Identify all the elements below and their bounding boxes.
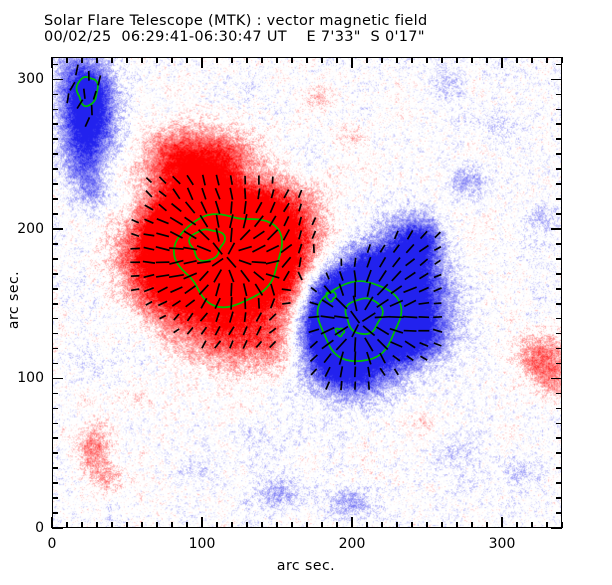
field-vector-northwest — [84, 89, 85, 99]
x-minor-tick-top — [216, 57, 218, 63]
field-vector — [282, 303, 290, 304]
field-vector — [159, 191, 166, 196]
field-vector — [321, 316, 335, 318]
field-vector — [284, 190, 289, 198]
y-tick-label: 0 — [4, 520, 44, 536]
field-vector — [355, 367, 356, 378]
field-vector — [326, 382, 329, 390]
field-vector — [340, 366, 342, 377]
field-vector — [340, 271, 343, 280]
field-vector-northwest — [67, 93, 69, 103]
y-minor-tick — [52, 393, 58, 395]
field-vector-northwest — [70, 82, 75, 90]
field-vector-northwest — [76, 65, 78, 75]
x-minor-tick — [216, 522, 218, 528]
x-minor-tick-top — [126, 57, 128, 63]
x-major-tick — [351, 517, 353, 528]
y-minor-tick — [52, 94, 58, 96]
y-minor-tick — [52, 408, 58, 410]
field-vector — [258, 188, 260, 199]
y-minor-tick — [52, 153, 58, 155]
x-minor-tick — [96, 522, 98, 528]
y-minor-tick-right — [556, 168, 562, 170]
x-minor-tick-top — [471, 57, 473, 63]
y-minor-tick — [52, 303, 58, 305]
x-tick-label: 0 — [48, 536, 57, 552]
field-vector — [380, 245, 385, 252]
y-minor-tick — [52, 512, 58, 514]
y-minor-tick — [52, 168, 58, 170]
x-minor-tick — [321, 522, 323, 528]
field-vector — [336, 298, 347, 309]
y-minor-tick — [52, 348, 58, 350]
field-vector — [395, 231, 398, 239]
field-vector — [199, 230, 210, 240]
y-major-tick — [52, 79, 63, 81]
field-vector — [299, 257, 301, 267]
field-vector — [159, 177, 166, 184]
field-vector — [231, 175, 233, 184]
field-vector — [172, 301, 180, 306]
x-minor-tick-top — [306, 57, 308, 63]
field-vector — [197, 246, 211, 252]
field-vector — [240, 230, 250, 240]
field-vector — [380, 353, 385, 363]
x-minor-tick-top — [336, 57, 338, 63]
field-vector — [202, 188, 206, 199]
field-vector — [420, 356, 427, 360]
field-vector — [173, 176, 181, 184]
field-vector — [282, 289, 291, 290]
x-minor-tick — [441, 522, 443, 528]
field-vector — [213, 243, 222, 255]
field-vector — [282, 257, 291, 267]
field-vector — [159, 316, 165, 319]
y-minor-tick — [52, 423, 58, 425]
contour-umbra-northwest — [77, 77, 98, 106]
field-vector — [312, 231, 315, 239]
field-vector — [256, 313, 261, 322]
field-vector — [241, 270, 250, 281]
field-vector — [259, 298, 260, 309]
x-minor-tick — [81, 522, 83, 528]
field-vector — [200, 271, 209, 281]
field-vector — [435, 260, 441, 264]
field-vector — [252, 262, 266, 263]
field-vector — [216, 215, 218, 228]
field-vector — [284, 216, 289, 226]
x-minor-tick-top — [291, 57, 293, 63]
x-minor-tick-top — [411, 57, 413, 63]
field-vector — [355, 351, 356, 364]
field-vector — [310, 355, 317, 361]
field-vector — [367, 270, 371, 282]
x-axis-title: arc sec. — [0, 558, 612, 574]
field-vector — [365, 338, 373, 351]
x-minor-tick-top — [96, 57, 98, 63]
field-vector — [200, 313, 207, 321]
field-vector — [227, 257, 236, 267]
field-vector — [353, 296, 356, 311]
x-minor-tick — [261, 522, 263, 528]
field-vector — [230, 341, 233, 349]
x-minor-tick-top — [261, 57, 263, 63]
field-vector — [326, 273, 329, 280]
y-minor-tick-right — [556, 64, 562, 66]
field-vector — [369, 381, 370, 389]
field-vector — [407, 356, 414, 361]
field-vector — [393, 356, 400, 361]
field-vector — [158, 287, 168, 292]
field-vector — [215, 188, 219, 199]
field-vector — [271, 190, 273, 199]
x-minor-tick — [156, 522, 158, 528]
field-vector — [229, 270, 234, 282]
field-vector — [403, 317, 418, 318]
field-vector — [257, 326, 261, 335]
field-vector — [156, 247, 170, 251]
y-minor-tick — [52, 123, 58, 125]
field-vector — [434, 288, 442, 291]
field-vector — [393, 258, 400, 267]
field-vector — [367, 283, 370, 297]
x-major-tick — [201, 517, 203, 528]
y-minor-tick-right — [556, 408, 562, 410]
field-vector — [131, 234, 139, 237]
y-minor-tick — [52, 198, 58, 200]
field-vector — [158, 301, 167, 305]
field-vector — [186, 202, 195, 213]
contour-umbra-positive-outer — [174, 214, 282, 307]
field-vector — [434, 275, 441, 278]
y-major-tick — [52, 228, 63, 230]
x-minor-tick — [366, 522, 368, 528]
field-vector — [368, 367, 370, 377]
field-vector — [406, 244, 414, 252]
field-vector — [186, 300, 195, 307]
field-vector — [169, 248, 184, 249]
field-vector — [216, 175, 219, 186]
x-major-tick-top — [351, 57, 353, 68]
x-minor-tick-top — [546, 57, 548, 63]
field-vector — [375, 317, 391, 318]
field-vector — [172, 204, 182, 212]
y-tick-label: 100 — [4, 370, 44, 386]
field-vector-northwest — [85, 117, 89, 126]
x-minor-tick — [141, 522, 143, 528]
field-vector — [202, 341, 206, 349]
y-minor-tick-right — [556, 183, 562, 185]
y-minor-tick-right — [556, 109, 562, 111]
field-vector — [380, 257, 386, 267]
x-minor-tick-top — [321, 57, 323, 63]
field-vector — [145, 205, 153, 210]
x-tick-label: 200 — [339, 536, 366, 552]
y-minor-tick-right — [556, 303, 562, 305]
y-minor-tick-right — [556, 198, 562, 200]
y-minor-tick — [52, 243, 58, 245]
y-minor-tick-right — [556, 123, 562, 125]
contour-umbra-negative-inner — [345, 298, 382, 334]
x-minor-tick — [456, 522, 458, 528]
vector-field-overlay — [53, 58, 561, 527]
x-minor-tick — [246, 522, 248, 528]
y-major-tick — [52, 527, 63, 529]
field-vector — [187, 327, 193, 334]
x-minor-tick-top — [186, 57, 188, 63]
y-minor-tick-right — [556, 348, 562, 350]
field-vector — [229, 327, 234, 335]
field-vector — [404, 287, 417, 292]
field-vector-northwest — [98, 75, 100, 85]
field-vector — [299, 244, 302, 253]
field-vector — [390, 342, 402, 347]
y-minor-tick — [52, 213, 58, 215]
y-minor-tick-right — [556, 437, 562, 439]
field-vector — [188, 188, 193, 200]
field-vector — [325, 367, 330, 377]
x-minor-tick — [516, 522, 518, 528]
field-vector — [169, 275, 184, 277]
field-vector — [170, 217, 183, 225]
field-vector — [231, 297, 232, 310]
x-minor-tick-top — [426, 57, 428, 63]
field-vector — [170, 287, 182, 292]
x-minor-tick-top — [141, 57, 143, 63]
field-vector — [187, 175, 193, 185]
field-vector — [419, 303, 430, 304]
field-vector — [215, 341, 221, 348]
y-minor-tick-right — [556, 243, 562, 245]
field-vector — [311, 369, 317, 375]
x-minor-tick-top — [246, 57, 248, 63]
field-vector — [144, 275, 155, 278]
field-vector — [266, 246, 278, 252]
field-vector — [143, 261, 155, 263]
field-vector — [421, 231, 428, 238]
y-minor-tick — [52, 288, 58, 290]
y-minor-tick — [52, 452, 58, 454]
x-minor-tick — [126, 522, 128, 528]
field-vector — [299, 190, 302, 198]
field-vector — [244, 283, 247, 295]
y-minor-tick-right — [556, 273, 562, 275]
field-vector — [298, 272, 302, 280]
field-vector — [254, 272, 264, 280]
field-vector — [269, 328, 276, 333]
field-vector — [231, 283, 232, 296]
field-vector — [419, 288, 429, 292]
x-minor-tick — [336, 522, 338, 528]
field-vector — [434, 343, 442, 346]
field-vector — [157, 219, 169, 224]
x-minor-tick — [276, 522, 278, 528]
field-vector — [433, 329, 442, 332]
figure-subtitle: 00/02/25 06:29:41-06:30:47 UT E 7'33" S … — [44, 29, 584, 45]
x-minor-tick — [111, 522, 113, 528]
field-vector — [310, 341, 317, 348]
y-major-tick — [52, 378, 63, 380]
field-vector — [245, 298, 246, 310]
field-vector — [408, 230, 413, 239]
field-vector — [435, 232, 441, 237]
x-minor-tick — [546, 522, 548, 528]
field-vector — [243, 340, 247, 348]
field-vector — [284, 203, 289, 212]
field-vector — [354, 270, 356, 281]
x-minor-tick — [471, 522, 473, 528]
field-vector — [146, 302, 152, 305]
field-vector — [299, 204, 301, 211]
x-tick-label: 300 — [489, 536, 516, 552]
field-vector — [214, 270, 221, 283]
field-vector — [185, 286, 196, 294]
x-major-tick-top — [501, 57, 503, 68]
x-minor-tick — [306, 522, 308, 528]
field-vector — [201, 327, 206, 334]
x-minor-tick — [486, 522, 488, 528]
field-vector — [308, 316, 319, 317]
y-minor-tick-right — [556, 497, 562, 499]
field-vector — [271, 284, 274, 296]
x-minor-tick — [186, 522, 188, 528]
field-vector — [311, 288, 317, 292]
field-vector — [173, 189, 180, 199]
field-vector — [243, 214, 246, 228]
field-vector — [405, 341, 415, 348]
field-vector — [420, 343, 429, 347]
field-vector — [252, 245, 265, 252]
field-vector — [144, 247, 155, 249]
x-minor-tick — [291, 522, 293, 528]
field-vector — [156, 275, 169, 277]
field-vector — [216, 283, 220, 296]
plot-area — [52, 57, 562, 528]
field-vector — [239, 247, 252, 251]
y-tick-label: 300 — [4, 71, 44, 87]
field-vector — [131, 289, 139, 290]
y-minor-tick — [52, 109, 58, 111]
field-vector — [284, 271, 290, 281]
y-major-tick-right — [551, 378, 562, 380]
y-minor-tick-right — [556, 213, 562, 215]
page-title: Solar Flare Telescope (MTK) : vector mag… — [44, 13, 584, 29]
field-vector — [419, 273, 428, 278]
y-minor-tick-right — [556, 393, 562, 395]
magnetogram-figure: Solar Flare Telescope (MTK) : vector mag… — [0, 0, 612, 585]
y-minor-tick-right — [556, 138, 562, 140]
field-vector — [336, 339, 346, 350]
y-minor-tick-right — [556, 288, 562, 290]
field-vector — [174, 314, 179, 320]
field-vector — [146, 191, 152, 197]
x-minor-tick-top — [156, 57, 158, 63]
x-major-tick-top — [51, 57, 53, 68]
field-vector — [271, 298, 275, 308]
x-major-tick — [501, 517, 503, 528]
y-tick-label: 200 — [4, 221, 44, 237]
x-minor-tick-top — [111, 57, 113, 63]
y-minor-tick — [52, 363, 58, 365]
field-vector — [187, 313, 192, 321]
figure-title-block: Solar Flare Telescope (MTK) : vector mag… — [44, 13, 584, 45]
x-minor-tick-top — [486, 57, 488, 63]
field-vector — [367, 352, 371, 364]
x-minor-tick-top — [171, 57, 173, 63]
field-vector — [243, 326, 247, 335]
field-vector — [299, 217, 301, 225]
field-vector — [341, 381, 342, 390]
y-major-tick-right — [551, 79, 562, 81]
y-minor-tick — [52, 333, 58, 335]
x-minor-tick — [66, 522, 68, 528]
x-minor-tick-top — [561, 57, 563, 63]
field-vector — [309, 329, 319, 332]
field-vector — [355, 337, 356, 351]
y-minor-tick-right — [556, 333, 562, 335]
x-major-tick-top — [201, 57, 203, 68]
y-minor-tick — [52, 467, 58, 469]
field-vector — [156, 233, 169, 236]
field-vector — [355, 258, 356, 267]
field-vector — [230, 312, 233, 323]
field-vector — [310, 302, 318, 304]
field-vector — [324, 354, 331, 363]
x-minor-tick — [531, 522, 533, 528]
field-vector — [256, 341, 261, 347]
x-minor-tick — [231, 522, 233, 528]
field-vector — [184, 261, 197, 264]
y-minor-tick — [52, 497, 58, 499]
x-minor-tick — [171, 522, 173, 528]
y-minor-tick-right — [556, 363, 562, 365]
y-minor-tick-right — [556, 467, 562, 469]
y-minor-tick-right — [556, 153, 562, 155]
field-vector — [132, 220, 139, 223]
field-vector — [434, 247, 441, 251]
field-vector — [144, 288, 154, 292]
field-vector — [174, 329, 180, 333]
field-vector — [362, 313, 375, 321]
field-vector — [245, 312, 246, 322]
field-vector — [203, 175, 205, 186]
field-vector — [197, 261, 211, 263]
y-minor-tick-right — [556, 258, 562, 260]
y-minor-tick-right — [556, 512, 562, 514]
field-vector — [239, 260, 251, 264]
x-minor-tick — [411, 522, 413, 528]
y-minor-tick — [52, 138, 58, 140]
field-vector — [392, 271, 401, 281]
field-vector — [231, 228, 232, 242]
field-vector — [269, 314, 276, 320]
y-minor-tick-right — [556, 318, 562, 320]
field-vector — [216, 228, 219, 241]
x-minor-tick — [426, 522, 428, 528]
field-vector — [215, 326, 220, 335]
field-vector — [256, 202, 262, 213]
y-minor-tick — [52, 318, 58, 320]
field-vector — [144, 234, 155, 236]
field-vector — [376, 327, 388, 334]
field-vector — [201, 298, 207, 308]
field-vector — [146, 178, 151, 183]
y-minor-tick — [52, 258, 58, 260]
y-major-tick-right — [551, 228, 562, 230]
field-vector — [378, 339, 388, 349]
field-vector — [270, 202, 275, 213]
y-minor-tick-right — [556, 452, 562, 454]
